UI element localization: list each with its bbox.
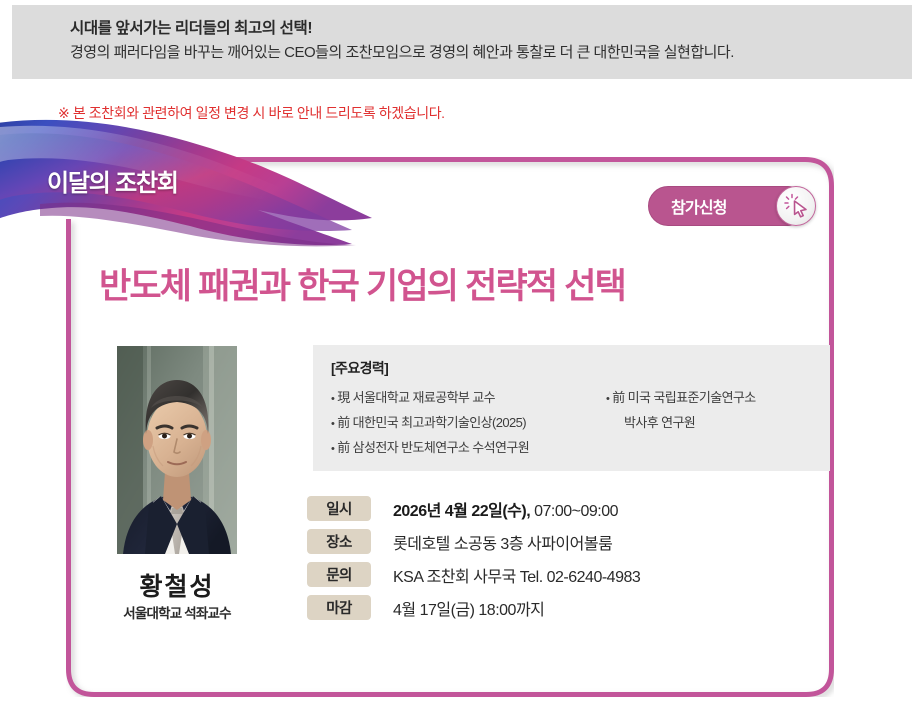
career-heading: [주요경력]	[331, 358, 830, 378]
speaker-affiliation: 서울대학교 석좌교수	[97, 602, 257, 622]
event-details: 일시 2026년 4월 22일(수), 07:00~09:00 장소 롯데호텔 …	[307, 492, 640, 624]
detail-value-datetime: 2026년 4월 22일(수), 07:00~09:00	[393, 497, 618, 521]
detail-label-deadline: 마감	[307, 595, 371, 620]
bullet-icon: •	[331, 418, 334, 430]
ribbon-label: 이달의 조찬회	[47, 163, 178, 198]
detail-label-contact: 문의	[307, 562, 371, 587]
header-tagline-primary: 시대를 앞서가는 리더들의 최고의 선택!	[70, 17, 912, 40]
detail-label-venue: 장소	[307, 529, 371, 554]
career-box: [주요경력] •現 서울대학교 재료공학부 교수 •前 대한민국 최고과학기술인…	[313, 345, 830, 471]
header-tagline-secondary: 경영의 패러다임을 바꾸는 깨어있는 CEO들의 조찬모임으로 경영의 혜안과 …	[70, 40, 912, 66]
career-item-continuation: 박사후 연구원	[606, 411, 816, 435]
career-item: •前 삼성전자 반도체연구소 수석연구원	[331, 436, 606, 461]
detail-value-contact: KSA 조찬회 사무국 Tel. 02-6240-4983	[393, 563, 640, 587]
detail-row-deadline: 마감 4월 17일(금) 18:00까지	[307, 591, 640, 624]
detail-label-datetime: 일시	[307, 496, 371, 521]
page-title: 반도체 패권과 한국 기업의 전략적 선택	[99, 258, 625, 309]
schedule-change-notice: ※ 본 조찬회와 관련하여 일정 변경 시 바로 안내 드리도록 하겠습니다.	[58, 103, 445, 123]
bullet-icon: •	[331, 443, 334, 455]
detail-value-venue: 롯데호텔 소공동 3층 사파이어볼룸	[393, 530, 612, 554]
detail-value-deadline: 4월 17일(금) 18:00까지	[393, 596, 544, 620]
apply-button-label: 참가신청	[671, 194, 727, 218]
cursor-click-icon[interactable]	[776, 186, 816, 226]
speaker-portrait	[117, 346, 237, 554]
career-item: •現 서울대학교 재료공학부 교수	[331, 386, 606, 411]
detail-row-datetime: 일시 2026년 4월 22일(수), 07:00~09:00	[307, 492, 640, 525]
career-item: •前 대한민국 최고과학기술인상(2025)	[331, 411, 606, 436]
career-column-left: •現 서울대학교 재료공학부 교수 •前 대한민국 최고과학기술인상(2025)…	[331, 386, 606, 461]
career-column-right: •前 미국 국립표준기술연구소 박사후 연구원	[606, 386, 816, 461]
detail-row-contact: 문의 KSA 조찬회 사무국 Tel. 02-6240-4983	[307, 558, 640, 591]
bullet-icon: •	[606, 393, 609, 405]
speaker-name: 황철성	[117, 567, 237, 603]
header-banner: 시대를 앞서가는 리더들의 최고의 선택! 경영의 패러다임을 바꾸는 깨어있는…	[12, 5, 912, 79]
detail-row-venue: 장소 롯데호텔 소공동 3층 사파이어볼룸	[307, 525, 640, 558]
career-item: •前 미국 국립표준기술연구소	[606, 386, 816, 411]
bullet-icon: •	[331, 393, 334, 405]
